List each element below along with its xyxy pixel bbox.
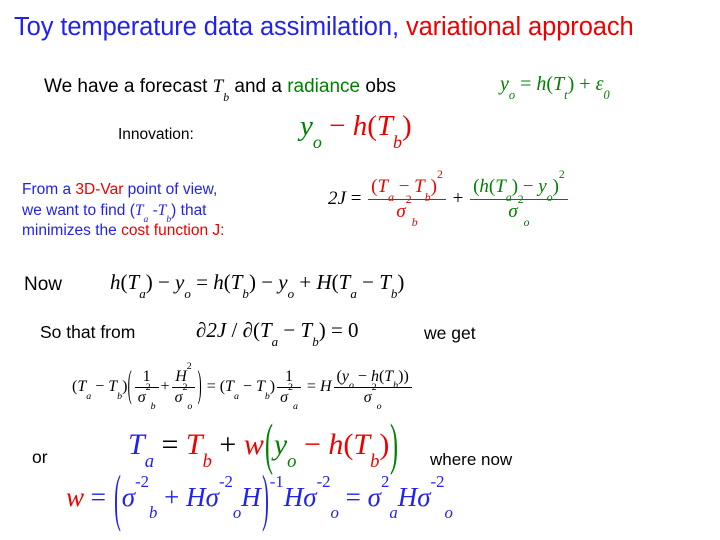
eq-obs-T-sub: t [564, 88, 567, 102]
para-3dvar-term: 3D-Var [75, 181, 123, 198]
eq-w-equals: = [84, 482, 113, 512]
eq-w-H1: H [186, 482, 206, 512]
eq-now-minus2: − [256, 270, 278, 294]
eq-obs-h: h [536, 73, 546, 95]
eq-now-y2: y [278, 270, 287, 294]
eq-cost-plus: + [448, 188, 468, 209]
para-symbol-ta: Ta [135, 202, 148, 219]
where-now-label: where now [430, 450, 512, 470]
eq-w-close-bracket: ) [262, 462, 269, 535]
now-label: Now [24, 274, 62, 296]
we-get-label: we get [424, 323, 476, 344]
eq-now-equals: = [191, 270, 213, 294]
eq-now-T2: T [231, 270, 243, 294]
eq-obs-equals: = [515, 73, 536, 95]
eq-now-y1: y [175, 270, 184, 294]
eq-cost-equals: = [346, 188, 366, 209]
eq-now-H: H [316, 270, 331, 294]
eq-w-H4: H [398, 482, 418, 512]
eq-ta-h: h [328, 428, 343, 461]
eq-solve-Tb1: T [108, 378, 117, 395]
eq-innov-h: h [353, 110, 368, 142]
eq-deriv-slash: / [226, 318, 242, 342]
eq-obs-y-sub: o [509, 88, 515, 102]
eq-now-h1: h [110, 270, 121, 294]
para-cost-function-term: cost function J: [121, 222, 224, 239]
eq-solve-frac-H2-sigma-o: H2σ2o [172, 368, 196, 407]
eq-innov-open-paren: ( [367, 110, 377, 142]
para-line2a: we want to find ( [22, 202, 135, 219]
eq-ta-minus: − [296, 428, 328, 461]
eq-solve-equals2: = [303, 378, 320, 395]
eq-now-h2: h [213, 270, 224, 294]
eq-solve-plus: + [161, 378, 170, 395]
eq-w-H2: H [241, 482, 261, 512]
eq-innov-close-paren: ) [402, 110, 412, 142]
forecast-statement: We have a forecast Tb and a radiance obs [44, 76, 396, 98]
eq-obs-T: T [553, 73, 564, 95]
forecast-text-before: We have a forecast [44, 76, 213, 97]
radiance-word: radiance [287, 76, 360, 97]
eq-deriv-partial1: ∂ [196, 318, 206, 342]
eq-solve-equals1: = [203, 378, 220, 395]
eq-cost-term2-denominator: σ2o [470, 200, 568, 223]
equation-solution: (Ta − Tb)(1σ2b+H2σ2o) = (Ta − Tb)1σ2a = … [72, 368, 414, 407]
eq-deriv-partial2: ∂ [243, 318, 253, 342]
eq-deriv-Ta: T [260, 318, 272, 342]
equation-observation: yo = h(Tt) + ε0 [500, 73, 610, 96]
eq-w-equals2: = [339, 482, 368, 512]
equation-analysis-update: Ta = Tb + w(yo − h(Tb)) [128, 428, 399, 464]
eq-solve-frac-innovation: (yo − h(Tb))σ2o [334, 368, 412, 407]
eq-w-sigma-a: σ [368, 482, 381, 512]
forecast-text-middle: and a [229, 76, 287, 97]
eq-now-T4: T [379, 270, 391, 294]
eq-solve-close-bracket: ) [198, 365, 202, 407]
forecast-text-after: obs [360, 76, 396, 97]
or-label: or [32, 447, 48, 468]
para-symbol-tb: Tb [158, 202, 171, 219]
eq-solve-frac-sigma-a: 1σ2a [277, 368, 301, 407]
page-title: Toy temperature data assimilation, varia… [14, 12, 634, 42]
para-line1c: point of view, [123, 181, 217, 198]
eq-ta-Ta: T [128, 428, 145, 461]
eq-now-T3: T [339, 270, 351, 294]
eq-now-T1: T [128, 270, 140, 294]
eq-obs-epsilon-sub: 0 [603, 88, 609, 102]
eq-now-open1: ( [121, 270, 128, 294]
eq-ta-weight: w [244, 428, 264, 461]
equation-linearization: h(Ta) − yo = h(Tb) − yo + H(Ta − Tb) [110, 270, 404, 295]
eq-deriv-zero: 0 [348, 318, 359, 342]
eq-deriv-Tb: T [301, 318, 313, 342]
eq-w-sigma-o1: σ [206, 482, 219, 512]
para-line2b: - [148, 202, 157, 219]
eq-solve-Ta1: T [77, 378, 86, 395]
eq-ta-equals: = [154, 428, 186, 461]
eq-cost-term-observation: (h(Ta) − yo)2σ2o [470, 176, 568, 223]
equation-innovation: yo − h(Tb) [300, 110, 412, 143]
eq-deriv-2j: 2J [206, 318, 226, 342]
eq-solve-H: H [320, 378, 332, 395]
eq-obs-y: y [500, 73, 509, 95]
para-line2c: ) that [171, 202, 206, 219]
innovation-label: Innovation: [118, 126, 194, 144]
threedvar-paragraph: From a 3D-Var point of view, we want to … [22, 180, 322, 242]
slide-canvas: Toy temperature data assimilation, varia… [0, 0, 720, 540]
eq-solve-Ta2: T [225, 378, 234, 395]
title-blue-part: Toy temperature data assimilation, [14, 13, 399, 41]
equation-weight: w = (σ-2b + Hσ-2oH)-1Hσ-2o = σ2aHσ-2o [66, 482, 453, 515]
eq-w-sigma-o2: σ [303, 482, 316, 512]
eq-now-close1: ) [146, 270, 153, 294]
eq-w-sigma-b: σ [122, 482, 135, 512]
eq-cost-term-background: (Ta − Tb)2σ2b [368, 176, 446, 223]
title-red-part: variational approach [399, 13, 634, 41]
eq-now-minus3: − [357, 270, 379, 294]
equation-derivative-condition: ∂2J / ∂(Ta − Tb) = 0 [196, 318, 359, 343]
so-that-from-label: So that from [40, 322, 135, 343]
eq-w-weight: w [66, 482, 84, 512]
eq-cost-term1-denominator: σ2b [368, 200, 446, 223]
eq-obs-plus: + [574, 73, 595, 95]
eq-w-open-bracket: ( [114, 462, 121, 535]
eq-ta-plus: + [212, 428, 244, 461]
eq-ta-Tb: T [186, 428, 203, 461]
eq-ta-y: y [274, 428, 287, 461]
eq-innov-T-sub: b [393, 132, 402, 152]
eq-solve-Tb2: T [256, 378, 265, 395]
eq-innov-y: y [300, 110, 313, 142]
eq-innov-minus: − [322, 110, 353, 142]
symbol-tb: Tb [213, 76, 229, 97]
eq-innov-T: T [377, 110, 393, 142]
eq-w-sigma-o3: σ [417, 482, 430, 512]
eq-innov-y-sub: o [313, 132, 322, 152]
eq-w-plus: + [157, 482, 186, 512]
eq-ta-T: T [353, 428, 370, 461]
eq-ta-close-bracket: ) [390, 414, 398, 479]
eq-solve-open-bracket: ( [128, 365, 132, 407]
equation-cost-function: 2J = (Ta − Tb)2σ2b + (h(Ta) − yo)2σ2o [328, 176, 570, 223]
para-line3a: minimizes the [22, 222, 121, 239]
para-line1a: From a [22, 181, 75, 198]
eq-w-inverse-exponent: -1 [270, 472, 284, 491]
eq-now-minus1: − [153, 270, 175, 294]
eq-now-plus: + [294, 270, 316, 294]
eq-w-H3: H [284, 482, 304, 512]
eq-solve-frac-sigma-b: 1σ2b [135, 368, 159, 407]
eq-cost-lhs: 2J [328, 188, 346, 209]
